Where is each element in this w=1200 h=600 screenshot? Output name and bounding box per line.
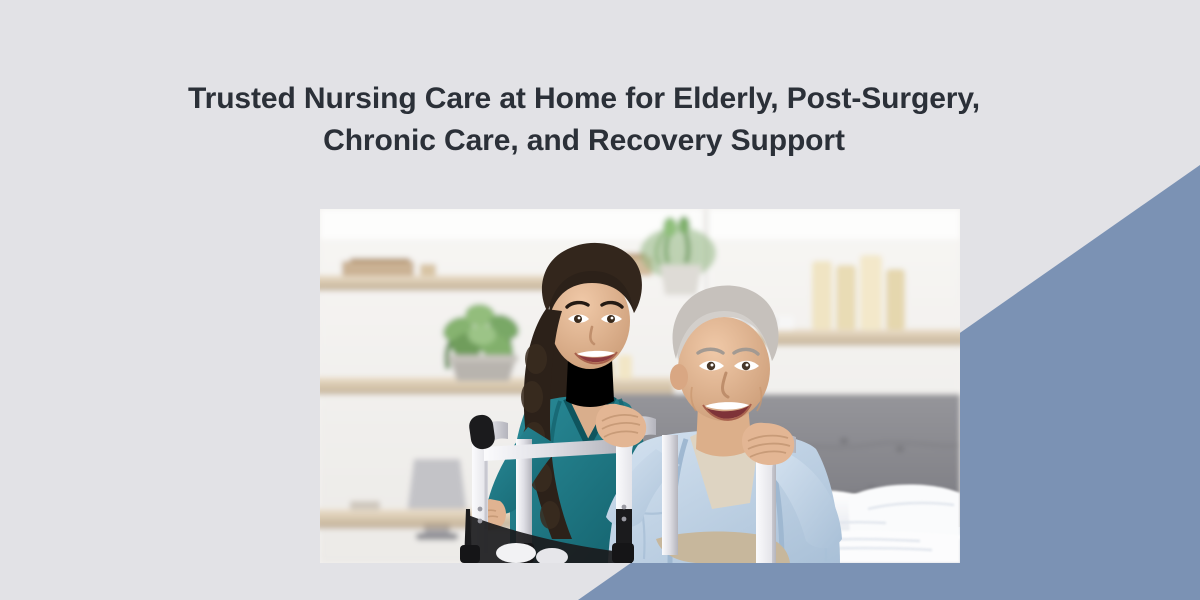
hero-photo-illustration <box>320 209 960 563</box>
hero-banner: Trusted Nursing Care at Home for Elderly… <box>0 0 1200 600</box>
page-title: Trusted Nursing Care at Home for Elderly… <box>0 78 1168 162</box>
hero-photo <box>320 209 960 563</box>
headline-line-1: Trusted Nursing Care at Home for Elderly… <box>0 78 1168 120</box>
headline-line-2: Chronic Care, and Recovery Support <box>0 120 1168 162</box>
